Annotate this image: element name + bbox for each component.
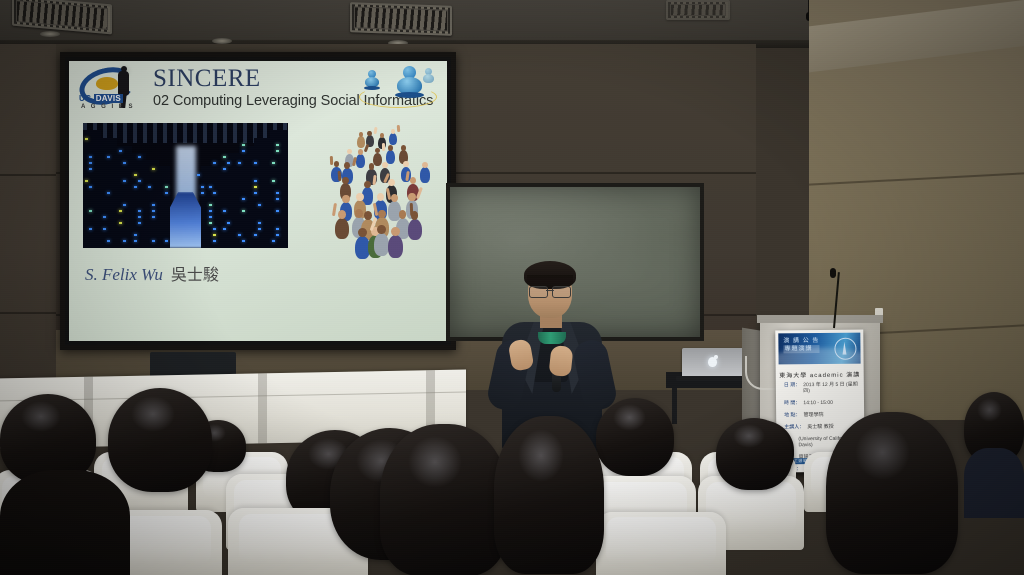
logo-brand-line: UC DAVIS — [79, 94, 123, 103]
audience-head — [108, 388, 212, 492]
audience-shoulder — [964, 448, 1024, 518]
microphone-head-icon — [830, 268, 836, 278]
slide-header: UC DAVIS A G G I E S SINCERE 02 Computin… — [69, 61, 447, 117]
audience-head — [826, 412, 958, 574]
logo-sub-line: A G G I E S — [81, 104, 134, 110]
apple-logo-icon — [708, 357, 717, 367]
poster-row: 日 期：2013 年 12 月 5 日 (星期四) — [784, 382, 858, 395]
ceiling-vent — [350, 2, 452, 36]
audience-shoulder — [0, 470, 130, 575]
slide-presenter-name: S. Felix Wu吳士駿 — [85, 261, 219, 285]
projection-screen: UC DAVIS A G G I E S SINCERE 02 Computin… — [60, 52, 456, 350]
ceiling-light — [40, 31, 60, 37]
university-emblem-icon — [834, 338, 856, 360]
cable — [745, 356, 777, 390]
audience-chair — [596, 512, 726, 575]
poster-row: 時 間：14:10 - 15:00 — [784, 400, 858, 407]
slide-title: SINCERE — [153, 65, 261, 93]
table-leg — [672, 388, 677, 424]
poster-header: 演 講 公 告 專題演講 — [778, 333, 860, 365]
lecture-hall-photo: UC DAVIS A G G I E S SINCERE 02 Computin… — [0, 0, 1024, 575]
audience-head — [494, 416, 604, 574]
presenter-hair — [524, 261, 576, 289]
audience-head — [596, 398, 674, 476]
uc-davis-logo-icon: UC DAVIS A G G I E S — [79, 66, 147, 112]
ceiling-vent — [666, 0, 730, 20]
slide-footer — [69, 317, 447, 327]
crowd-image — [319, 121, 437, 251]
poster-header-text: 演 講 公 告 專題演講 — [783, 337, 819, 353]
eyeglasses-icon — [529, 286, 571, 296]
data-center-image — [83, 123, 288, 248]
wall-soffit — [809, 0, 1024, 72]
lectern-top — [757, 315, 883, 323]
poster-title: 東海大學 academic 演講 — [776, 370, 864, 380]
green-lanyard — [538, 332, 566, 344]
laptop[interactable] — [682, 348, 744, 376]
audience-head — [716, 418, 792, 490]
laptop-base — [676, 376, 752, 381]
poster-row: 地 點：管理學院 — [784, 412, 858, 419]
social-network-avatars-icon — [353, 64, 439, 112]
wall-seam — [809, 172, 1024, 185]
presenter-hand — [548, 345, 573, 377]
presentation-slide: UC DAVIS A G G I E S SINCERE 02 Computin… — [69, 61, 447, 341]
audience-head — [380, 424, 508, 575]
